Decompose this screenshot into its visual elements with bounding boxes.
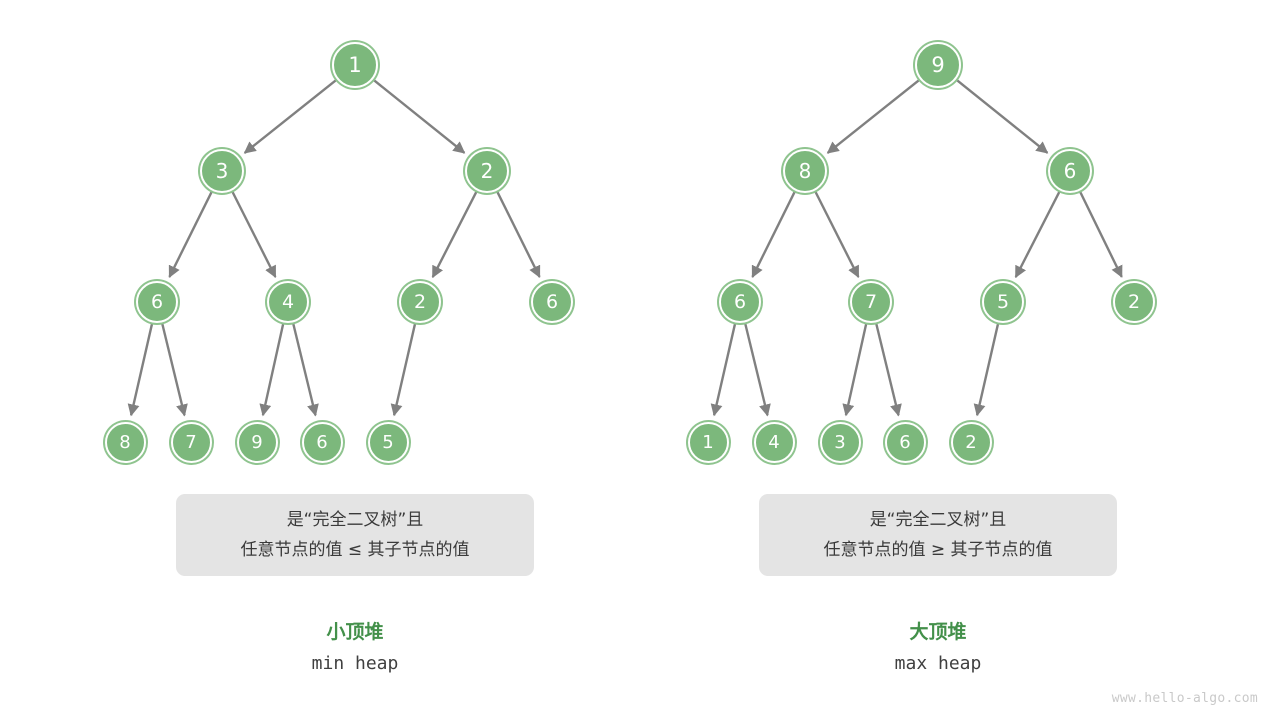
tree-node[interactable]: 6 [531,281,573,323]
diagram-canvas: 132642687965986675214362 是“完全二叉树”且 任意节点的… [0,0,1280,720]
tree-node[interactable]: 1 [688,422,729,463]
tree-node[interactable]: 9 [237,422,278,463]
tree-node[interactable]: 6 [302,422,343,463]
tree-node[interactable]: 5 [982,281,1024,323]
tree-node[interactable]: 6 [1048,149,1092,193]
tree-node[interactable]: 3 [200,149,244,193]
caption-line-2: 任意节点的值 ≤ 其子节点的值 [240,535,469,565]
caption-line-1: 是“完全二叉树”且 [287,505,424,535]
heap-subtitle-max: max heap [838,653,1038,674]
caption-box-max-heap: 是“完全二叉树”且 任意节点的值 ≥ 其子节点的值 [759,494,1117,576]
tree-node[interactable]: 7 [171,422,212,463]
tree-node[interactable]: 6 [719,281,761,323]
tree-node[interactable]: 4 [754,422,795,463]
heap-title-min: 小顶堆 [255,617,455,644]
tree-node[interactable]: 3 [820,422,861,463]
tree-node[interactable]: 2 [465,149,509,193]
watermark: www.hello-algo.com [1112,691,1258,706]
tree-node[interactable]: 5 [368,422,409,463]
tree-node[interactable]: 8 [783,149,827,193]
tree-node[interactable]: 2 [951,422,992,463]
nodes-layer: 132642687965986675214362 [0,0,1280,720]
caption-line-2: 任意节点的值 ≥ 其子节点的值 [823,535,1052,565]
tree-node[interactable]: 2 [1113,281,1155,323]
tree-node[interactable]: 6 [136,281,178,323]
tree-node[interactable]: 9 [915,42,961,88]
tree-node[interactable]: 4 [267,281,309,323]
tree-node[interactable]: 2 [399,281,441,323]
tree-node[interactable]: 1 [332,42,378,88]
caption-box-min-heap: 是“完全二叉树”且 任意节点的值 ≤ 其子节点的值 [176,494,534,576]
heap-title-max: 大顶堆 [838,617,1038,644]
heap-subtitle-min: min heap [255,653,455,674]
tree-node[interactable]: 7 [850,281,892,323]
tree-node[interactable]: 8 [105,422,146,463]
tree-node[interactable]: 6 [885,422,926,463]
caption-line-1: 是“完全二叉树”且 [870,505,1007,535]
